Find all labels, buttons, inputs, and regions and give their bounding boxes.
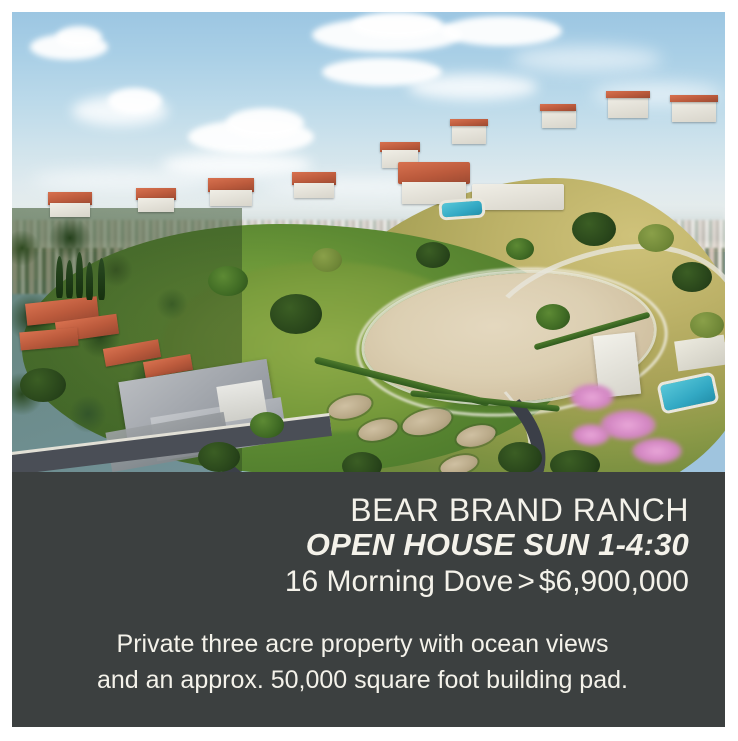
flowering-shrub (570, 384, 614, 410)
tree (506, 238, 534, 260)
community-name: BEAR BRAND RANCH (36, 494, 689, 528)
tree (250, 412, 284, 438)
cypress-tree (98, 258, 105, 300)
street-address: 16 Morning Dove (285, 565, 513, 598)
tree (690, 312, 724, 338)
tile-roof-mansion-wall (402, 182, 466, 204)
listing-price: $6,900,000 (539, 565, 689, 598)
ridge-house (450, 119, 488, 126)
tree (312, 248, 342, 272)
ridge-house (540, 104, 576, 111)
ridge-house (608, 96, 648, 118)
flowering-shrub (572, 424, 610, 446)
listing-info-panel: BEAR BRAND RANCH OPEN HOUSE SUN 1-4:30 1… (12, 472, 725, 727)
real-estate-ad: BEAR BRAND RANCH OPEN HOUSE SUN 1-4:30 1… (12, 12, 725, 727)
cypress-tree (66, 260, 73, 298)
modern-house (674, 335, 725, 372)
cloud (108, 88, 162, 114)
ridge-house (452, 124, 486, 144)
property-description: Private three acre property with ocean v… (36, 627, 689, 698)
description-line-1: Private three acre property with ocean v… (36, 627, 689, 663)
address-price-line: 16 Morning Dove>$6,900,000 (36, 562, 689, 601)
tree (20, 368, 66, 402)
ridge-house (672, 100, 716, 122)
cloud (352, 12, 442, 38)
white-mansion (472, 184, 564, 210)
tile-roof-house-wall (50, 203, 90, 217)
separator-icon: > (513, 565, 539, 598)
hillside-pool (442, 201, 483, 218)
headline-block: BEAR BRAND RANCH OPEN HOUSE SUN 1-4:30 1… (36, 472, 689, 601)
tile-roof-house-wall (138, 198, 174, 212)
tile-roof-house-wall (210, 190, 252, 206)
tree (672, 262, 712, 292)
cloud (512, 46, 662, 72)
tile-roof-mansion (398, 162, 470, 184)
tree (270, 294, 322, 334)
ridge-house (542, 108, 576, 128)
open-house-time: OPEN HOUSE SUN 1-4:30 (36, 528, 689, 562)
description-line-2: and an approx. 50,000 square foot buildi… (36, 663, 689, 699)
tree (198, 442, 240, 472)
tree (550, 450, 600, 472)
ridge-house (606, 91, 650, 98)
cypress-tree (86, 262, 93, 300)
tree (498, 442, 542, 472)
cloud (408, 74, 538, 100)
cloud (32, 170, 212, 190)
cypress-tree (76, 252, 83, 298)
tree (416, 242, 450, 268)
cloud (56, 26, 102, 48)
ridge-house (670, 95, 718, 102)
tree (536, 304, 570, 330)
cloud (226, 108, 304, 138)
tree (572, 212, 616, 246)
tile-roof-house-wall (294, 183, 334, 198)
tree (638, 224, 674, 252)
property-photo (12, 12, 725, 472)
flowering-shrub (632, 438, 682, 464)
cypress-tree (56, 256, 63, 298)
cloud (442, 16, 562, 46)
tree (208, 266, 248, 296)
